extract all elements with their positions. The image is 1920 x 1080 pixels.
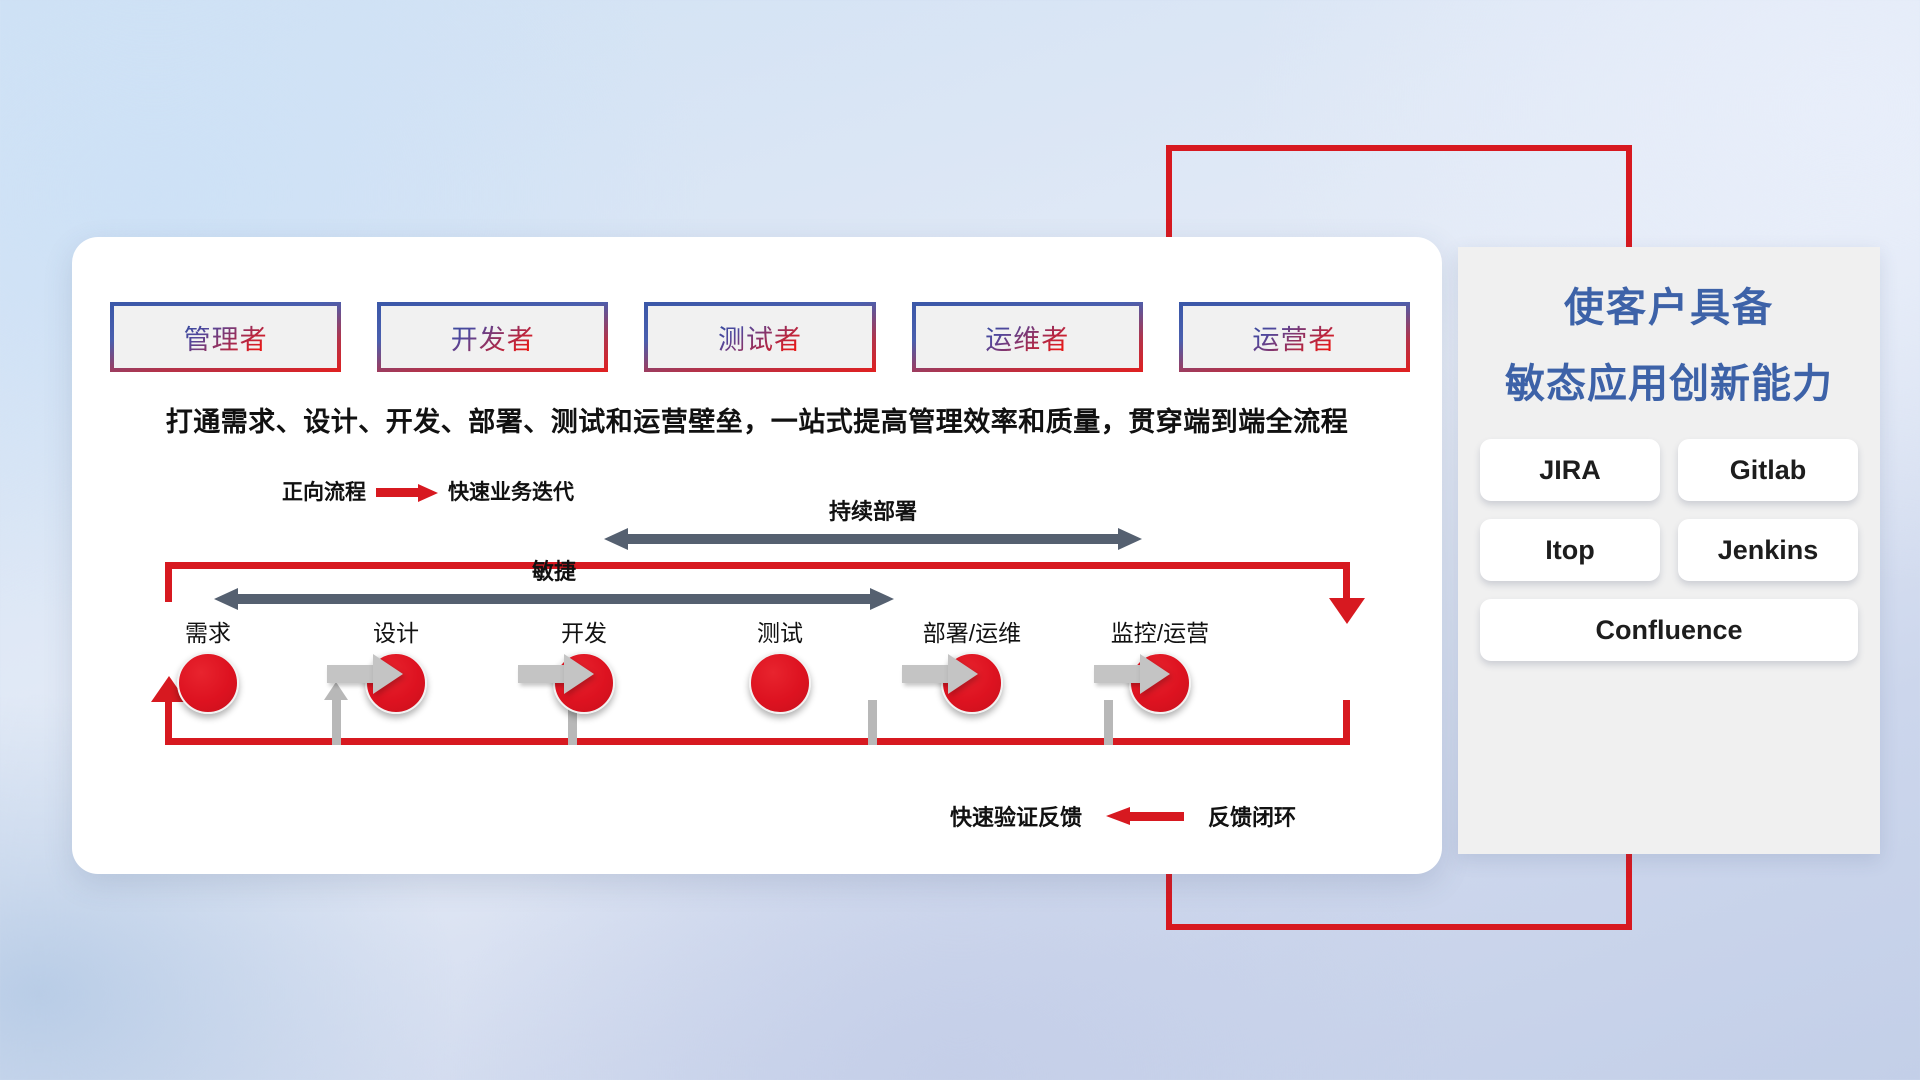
role-label: 运营者 (1252, 318, 1336, 357)
tool-chip-confluence[interactable]: Confluence (1480, 599, 1858, 661)
role-box-developer[interactable]: 开发者 (377, 302, 608, 372)
outer-bracket-bottom-line (1166, 924, 1632, 930)
continuous-deployment-double-arrow-icon (604, 528, 1142, 550)
flow-arrow-4-icon (1094, 654, 1170, 694)
feedback-loop-left-upper (165, 562, 172, 602)
tagline-text: 打通需求、设计、开发、部署、测试和运营壁垒，一站式提高管理效率和质量，贯穿端到端… (72, 400, 1442, 439)
feedback-loop-label: 反馈闭环 (1208, 800, 1296, 832)
role-label: 运维者 (985, 318, 1069, 357)
continuous-deployment-label: 持续部署 (604, 494, 1142, 526)
pipeline-node-dot-icon (177, 652, 239, 714)
pipeline-node-dot-icon (749, 652, 811, 714)
feedback-loop-legend: 快速验证反馈 反馈闭环 (950, 800, 1296, 832)
tool-chip-jira[interactable]: JIRA (1480, 439, 1660, 501)
role-box-tester[interactable]: 测试者 (644, 302, 875, 372)
right-side-panel: 使客户具备 敏态应用创新能力 JIRA Gitlab Itop Jenkins … (1458, 247, 1880, 854)
feedback-loop-bottom-line (165, 738, 1350, 745)
role-label: 开发者 (451, 318, 535, 357)
arrow-right-red-icon (376, 484, 438, 498)
forward-flow-legend: 正向流程 快速业务迭代 (282, 476, 574, 506)
pipeline-node-label: 部署/运维 (912, 614, 1032, 648)
pipeline-node-label: 设计 (336, 614, 456, 648)
feedback-outcome-label: 快速验证反馈 (950, 800, 1082, 832)
tool-chip-gitlab[interactable]: Gitlab (1678, 439, 1858, 501)
arrow-left-red-icon (1106, 808, 1184, 824)
pipeline-node-label: 需求 (148, 614, 268, 648)
flow-arrow-2-icon (518, 654, 594, 694)
agile-label: 敏捷 (214, 554, 894, 586)
tool-chip-jenkins[interactable]: Jenkins (1678, 519, 1858, 581)
panel-title-line2: 敏态应用创新能力 (1458, 351, 1880, 409)
panel-title: 使客户具备 敏态应用创新能力 (1458, 247, 1880, 409)
panel-title-line1: 使客户具备 (1458, 275, 1880, 333)
pipeline-node-label: 开发 (524, 614, 644, 648)
pipeline-node-label: 测试 (720, 614, 840, 648)
pipeline-row: 需求 设计 开发 测试 部署/运维 监控/运营 (72, 614, 1442, 734)
role-label: 管理者 (184, 318, 268, 357)
tool-chip-grid: JIRA Gitlab Itop Jenkins Confluence (1480, 439, 1858, 661)
forward-flow-outcome: 快速业务迭代 (448, 476, 574, 506)
pipeline-node-requirements[interactable]: 需求 (148, 614, 268, 714)
outer-bracket-top-line (1166, 145, 1632, 151)
role-box-operations[interactable]: 运营者 (1179, 302, 1410, 372)
feedback-loop-right-upper (1343, 562, 1350, 600)
flow-arrow-1-icon (327, 654, 403, 694)
roles-row: 管理者 开发者 测试者 运维者 运营者 (110, 302, 1410, 372)
pipeline-node-testing[interactable]: 测试 (720, 614, 840, 714)
pipeline-node-label: 监控/运营 (1100, 614, 1220, 648)
role-box-ops[interactable]: 运维者 (912, 302, 1143, 372)
flow-arrow-3-icon (902, 654, 978, 694)
tool-chip-itop[interactable]: Itop (1480, 519, 1660, 581)
forward-flow-label: 正向流程 (282, 476, 366, 506)
agile-double-arrow-icon (214, 588, 894, 610)
role-label: 测试者 (718, 318, 802, 357)
role-box-manager[interactable]: 管理者 (110, 302, 341, 372)
